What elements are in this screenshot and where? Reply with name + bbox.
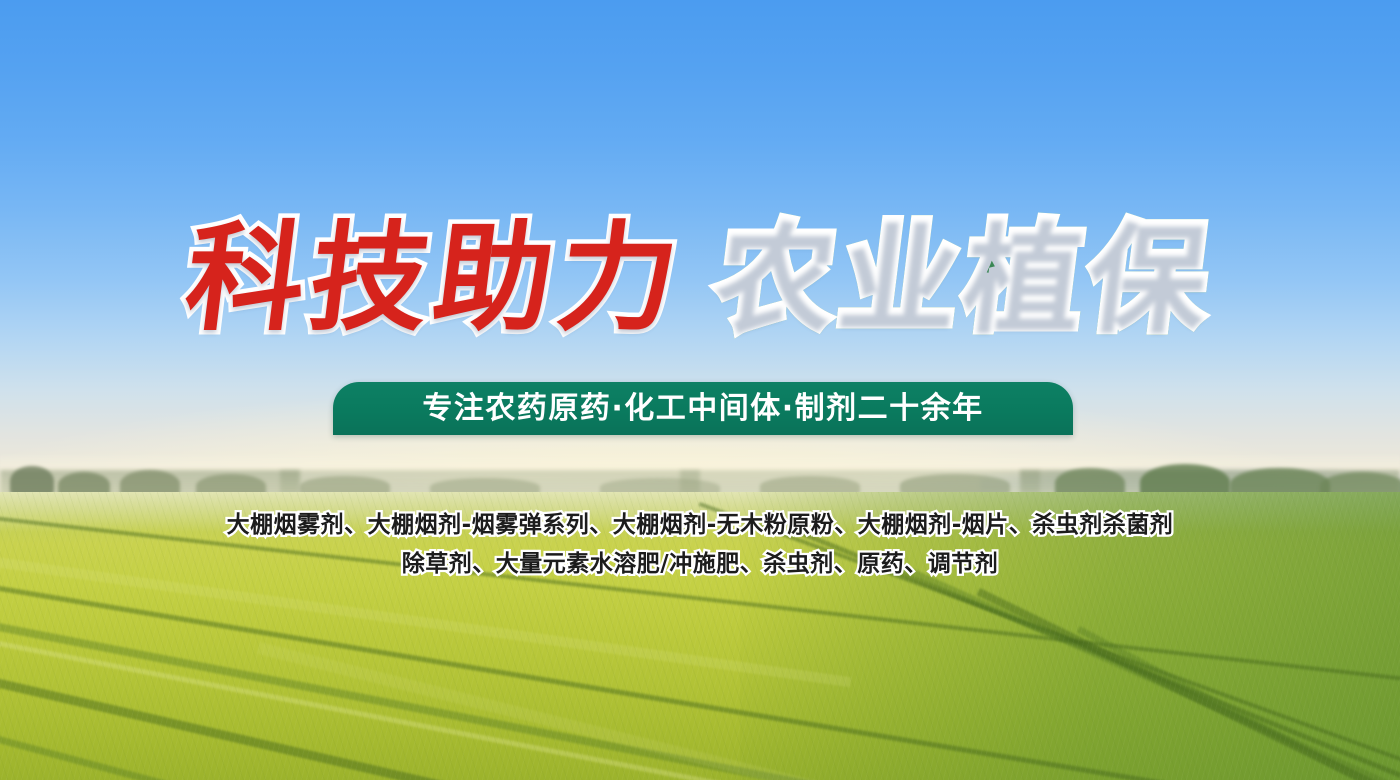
headline-red-segment: 科技助力 (178, 204, 692, 352)
product-list-line-2: 除草剂、大量元素水溶肥/冲施肥、杀虫剂、原药、调节剂 (0, 544, 1400, 578)
subtitle-ribbon: 专注农药原药·化工中间体·制剂二十余年 (333, 382, 1073, 435)
product-list-line-1: 大棚烟雾剂、大棚烟剂-烟雾弹系列、大棚烟剂-无木粉原粉、大棚烟剂-烟片、杀虫剂杀… (0, 505, 1400, 539)
subtitle-text: 专注农药原药·化工中间体·制剂二十余年 (422, 394, 983, 424)
headline-green-segment: 农业植保 (708, 204, 1222, 352)
promo-banner: 科技助力农业植保 专注农药原药·化工中间体·制剂二十余年 大棚烟雾剂、大棚烟剂-… (0, 0, 1400, 780)
page-title: 科技助力农业植保 (0, 204, 1400, 352)
